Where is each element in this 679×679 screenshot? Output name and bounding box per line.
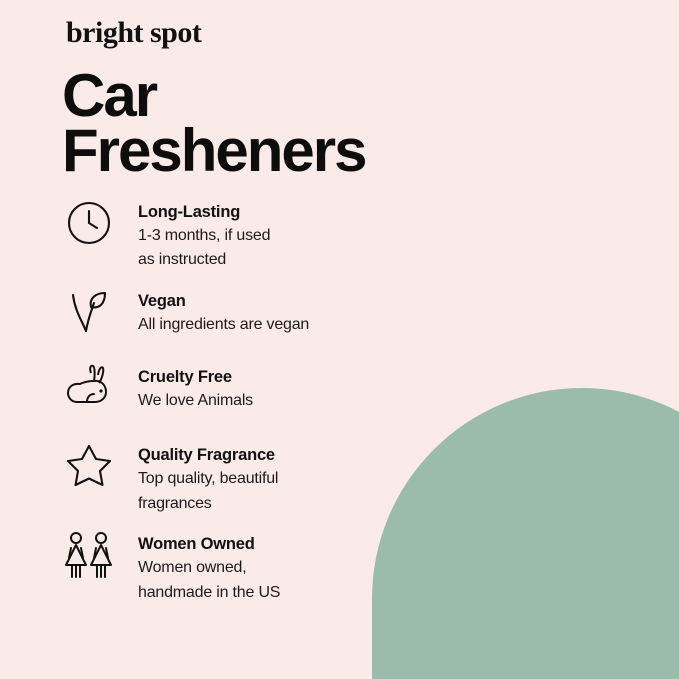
feature-title: Vegan xyxy=(138,291,309,312)
feature-item-quality-fragrance: Quality Fragrance Top quality, beautiful… xyxy=(60,439,440,516)
product-image: bright spot SKI TRIP xyxy=(430,0,679,679)
left-content-column: bright spot Car Fresheners Long-Lasting … xyxy=(0,0,440,679)
feature-text-long-lasting: Long-Lasting 1-3 months, if used as inst… xyxy=(118,196,270,273)
two-women-icon xyxy=(60,528,118,592)
feature-description: All ingredients are vegan xyxy=(138,313,309,338)
feature-title: Quality Fragrance xyxy=(138,445,278,466)
feature-description: Top quality, beautiful fragrances xyxy=(138,467,278,517)
feature-text-cruelty-free: Cruelty Free We love Animals xyxy=(118,361,253,413)
feature-title: Cruelty Free xyxy=(138,367,253,388)
headline-line-2: Fresheners xyxy=(62,117,366,184)
feature-text-women-owned: Women Owned Women owned, handmade in the… xyxy=(118,528,280,605)
clock-icon xyxy=(60,196,118,260)
feature-description: 1-3 months, if used as instructed xyxy=(138,224,270,274)
feature-list: Long-Lasting 1-3 months, if used as inst… xyxy=(60,196,440,606)
feature-item-women-owned: Women Owned Women owned, handmade in the… xyxy=(60,528,440,605)
leaf-vegan-icon xyxy=(60,285,118,349)
infographic-canvas: bright spot Car Fresheners Long-Lasting … xyxy=(0,0,679,679)
feature-item-vegan: Vegan All ingredients are vegan xyxy=(60,285,440,349)
feature-text-quality-fragrance: Quality Fragrance Top quality, beautiful… xyxy=(118,439,278,516)
feature-title: Long-Lasting xyxy=(138,202,270,223)
feature-description: We love Animals xyxy=(138,389,253,414)
feature-item-cruelty-free: Cruelty Free We love Animals xyxy=(60,361,440,425)
page-title: Car Fresheners xyxy=(62,68,462,178)
star-icon xyxy=(60,439,118,503)
feature-text-vegan: Vegan All ingredients are vegan xyxy=(118,285,309,337)
feature-title: Women Owned xyxy=(138,534,280,555)
feature-item-long-lasting: Long-Lasting 1-3 months, if used as inst… xyxy=(60,196,440,273)
rabbit-icon xyxy=(60,361,118,425)
feature-description: Women owned, handmade in the US xyxy=(138,556,280,606)
brand-logo: bright spot xyxy=(66,16,201,50)
